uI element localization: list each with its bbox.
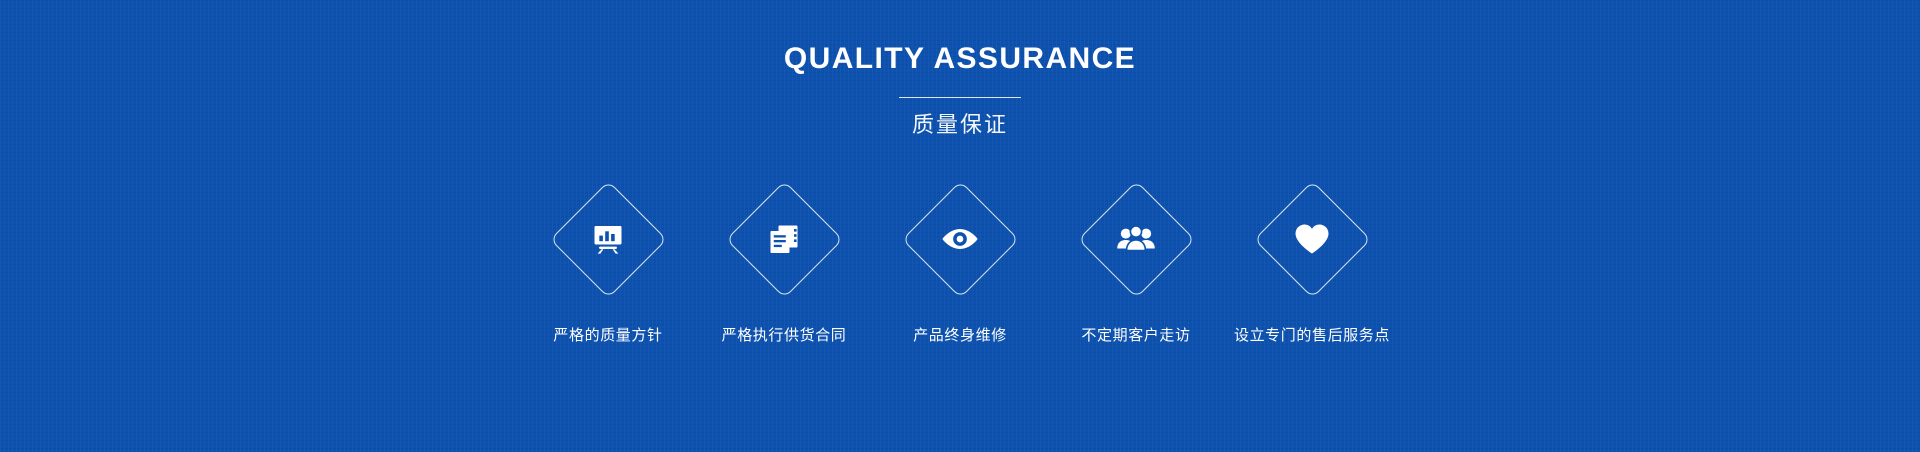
users-group-icon bbox=[1116, 219, 1156, 259]
diamond-frame bbox=[1253, 180, 1371, 298]
feature-item-customer-visits[interactable]: 不定期客户走访 bbox=[1048, 180, 1224, 343]
feature-label: 严格执行供货合同 bbox=[722, 328, 847, 343]
heading-block: QUALITY ASSURANCE 质量保证 bbox=[784, 44, 1136, 136]
page-subtitle: 质量保证 bbox=[912, 114, 1008, 136]
diamond-frame bbox=[901, 180, 1019, 298]
diamond-frame bbox=[725, 180, 843, 298]
feature-label: 设立专门的售后服务点 bbox=[1234, 328, 1390, 343]
eye-icon bbox=[940, 219, 980, 259]
contract-document-icon bbox=[764, 219, 804, 259]
feature-item-after-sales-center[interactable]: 设立专门的售后服务点 bbox=[1224, 180, 1400, 343]
feature-label: 不定期客户走访 bbox=[1081, 328, 1190, 343]
diamond-frame bbox=[1077, 180, 1195, 298]
presentation-chart-icon bbox=[588, 219, 628, 259]
feature-list: 严格的质量方针 严格执 bbox=[520, 180, 1400, 343]
feature-label: 严格的质量方针 bbox=[553, 328, 662, 343]
quality-assurance-banner: QUALITY ASSURANCE 质量保证 bbox=[0, 0, 1920, 452]
feature-label: 产品终身维修 bbox=[913, 328, 1007, 343]
title-divider bbox=[899, 97, 1021, 98]
feature-item-quality-policy[interactable]: 严格的质量方针 bbox=[520, 180, 696, 343]
heart-icon bbox=[1292, 219, 1332, 259]
page-title: QUALITY ASSURANCE bbox=[784, 44, 1136, 74]
feature-item-lifetime-service[interactable]: 产品终身维修 bbox=[872, 180, 1048, 343]
feature-item-supply-contract[interactable]: 严格执行供货合同 bbox=[696, 180, 872, 343]
diamond-frame bbox=[549, 180, 667, 298]
